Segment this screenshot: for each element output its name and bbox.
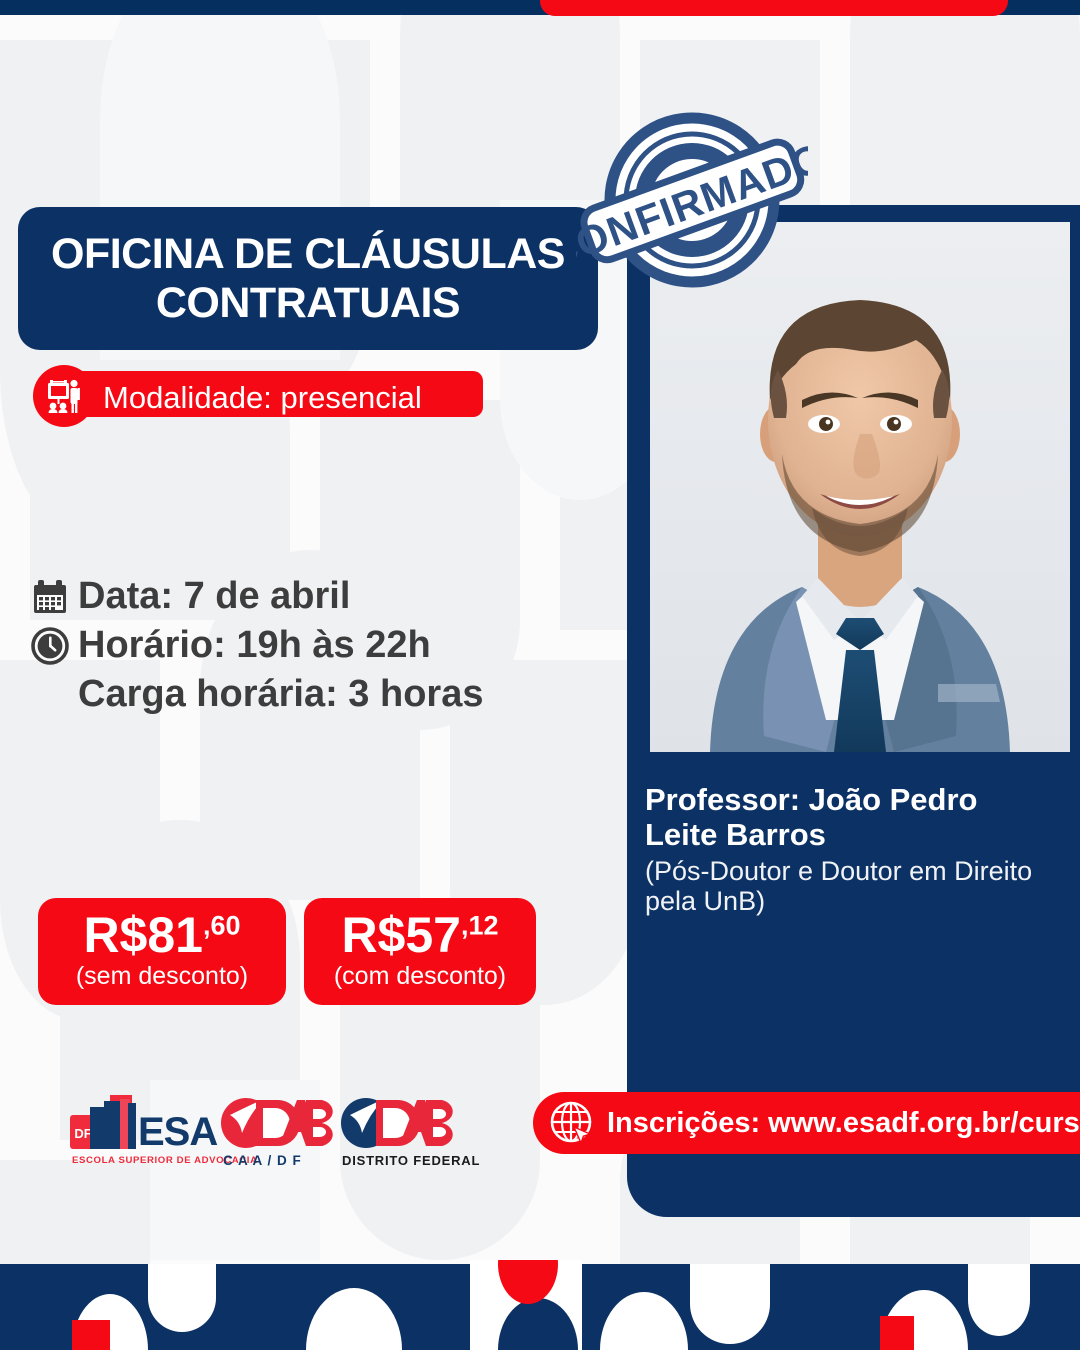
presentation-board-icon xyxy=(44,376,84,416)
registration-label: Inscrições: www.esadf.org.br/cursos xyxy=(607,1107,1080,1140)
price-badge-full: R$81,60 (sem desconto) xyxy=(38,898,286,1005)
duration-text: Carga horária: 3 horas xyxy=(78,673,600,716)
professor-photo xyxy=(650,222,1070,752)
professor-name: Professor: João Pedro Leite Barros xyxy=(645,782,1045,853)
poster-canvas: CONFIRMADO! OFICINA DE CLÁUSULAS CONTRAT… xyxy=(0,0,1080,1350)
amount-discount: 57 xyxy=(405,907,461,963)
currency-full: R$ xyxy=(83,907,147,963)
logo-strip: DF ESA ESCOLA SUPERIOR DE ADVOCACIA C A … xyxy=(60,1083,490,1175)
title-box: OFICINA DE CLÁUSULAS CONTRATUAIS xyxy=(18,207,598,350)
globe-cursor-icon xyxy=(547,1098,597,1148)
price-badge-discount: R$57,12 (com desconto) xyxy=(304,898,536,1005)
modality-badge: Modalidade: presencial xyxy=(33,371,422,425)
price-group: R$81,60 (sem desconto) R$57,12 (com desc… xyxy=(38,898,536,1005)
professor-info: Professor: João Pedro Leite Barros (Pós-… xyxy=(645,782,1045,917)
modality-label: Modalidade: presencial xyxy=(103,380,422,416)
oab-df-tagline: DISTRITO FEDERAL xyxy=(342,1153,480,1168)
confirmado-stamp: CONFIRMADO! xyxy=(576,100,808,300)
calendar-icon xyxy=(30,577,70,617)
cents-discount: ,12 xyxy=(461,910,499,940)
registration-bar[interactable]: Inscrições: www.esadf.org.br/cursos xyxy=(533,1092,1080,1154)
esa-acronym: ESA xyxy=(138,1110,217,1154)
time-row: Horário: 19h às 22h xyxy=(30,624,600,667)
cents-full: ,60 xyxy=(203,910,241,940)
oab-caadf-logo: C A A / D F xyxy=(221,1098,333,1168)
price-note-discount: (com desconto) xyxy=(330,962,510,991)
schedule-info: Data: 7 de abril Horário: 19h às 22h Car… xyxy=(30,575,600,716)
page-title: OFICINA DE CLÁUSULAS CONTRATUAIS xyxy=(18,230,598,326)
date-text: Data: 7 de abril xyxy=(78,575,350,618)
professor-credentials: (Pós-Doutor e Doutor em Direito pela UnB… xyxy=(645,856,1045,918)
esa-df-mark: DF xyxy=(74,1126,91,1141)
modality-icon-circle xyxy=(33,365,95,427)
price-note-full: (sem desconto) xyxy=(64,962,260,991)
amount-full: 81 xyxy=(147,907,203,963)
time-text: Horário: 19h às 22h xyxy=(78,624,431,667)
oab-df-logo: DISTRITO FEDERAL xyxy=(341,1098,480,1168)
clock-icon xyxy=(30,626,70,666)
top-red-accent xyxy=(540,0,1008,16)
oab-caadf-tagline: C A A / D F xyxy=(223,1153,302,1168)
price-value-discount: R$57,12 xyxy=(330,910,510,960)
date-row: Data: 7 de abril xyxy=(30,575,600,618)
currency-discount: R$ xyxy=(341,907,405,963)
bottom-decorative-band xyxy=(0,1260,1080,1350)
price-value-full: R$81,60 xyxy=(64,910,260,960)
